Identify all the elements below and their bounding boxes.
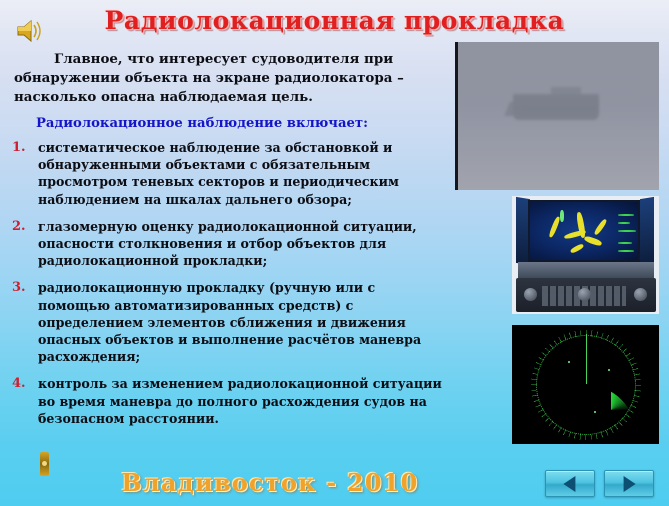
list-item-number: 4.: [12, 375, 26, 392]
presentation-slide: Радиолокационная прокладка Главное, что …: [0, 0, 669, 506]
ppi-target-blip: [568, 361, 570, 363]
radar-ppi-display-photo: [512, 325, 659, 444]
console-knob: [578, 288, 591, 301]
prev-slide-button[interactable]: [545, 470, 595, 497]
list-item-text: систематическое наблюдение за обстановко…: [38, 140, 399, 207]
list-item-number: 1.: [12, 139, 26, 156]
list-item: 3. радиолокационную прокладку (ручную ил…: [8, 279, 446, 365]
list-item-text: глазомерную оценку радиолокационной ситу…: [38, 219, 417, 268]
next-slide-button[interactable]: [604, 470, 654, 497]
list-item-number: 3.: [12, 279, 26, 296]
list-item-text: контроль за изменением радиолокационной …: [38, 376, 442, 425]
list-item-number: 2.: [12, 218, 26, 235]
numbered-list: 1. систематическое наблюдение за обстано…: [8, 139, 446, 427]
intro-paragraph: Главное, что интересует судоводителя при…: [14, 50, 446, 107]
list-item-text: радиолокационную прокладку (ручную или с…: [38, 280, 421, 364]
slide-footer: Владивосток - 2010: [0, 468, 540, 497]
ship-in-fog-photo: [455, 42, 659, 190]
console-screen: [528, 200, 640, 262]
list-item: 1. систематическое наблюдение за обстано…: [8, 139, 446, 208]
ppi-heading-line: [586, 334, 587, 384]
fog-overlay: [458, 42, 659, 190]
slide-title: Радиолокационная прокладка: [0, 6, 669, 35]
console-control-panel: [516, 278, 656, 312]
list-item: 2. глазомерную оценку радиолокационной с…: [8, 218, 446, 270]
arrow-left-icon: [563, 476, 575, 492]
arrow-right-icon: [624, 476, 636, 492]
slide-body: Главное, что интересует судоводителя при…: [8, 50, 446, 437]
section-subheading: Радиолокационное наблюдение включает:: [36, 115, 446, 133]
radar-console-photo: [512, 196, 659, 314]
ppi-target-blip: [608, 369, 610, 371]
console-knob: [634, 288, 647, 301]
console-knob: [524, 288, 537, 301]
list-item: 4. контроль за изменением радиолокационн…: [8, 375, 446, 427]
ppi-target-blip: [594, 411, 596, 413]
console-hood-right: [640, 197, 654, 265]
console-base: [518, 262, 654, 279]
